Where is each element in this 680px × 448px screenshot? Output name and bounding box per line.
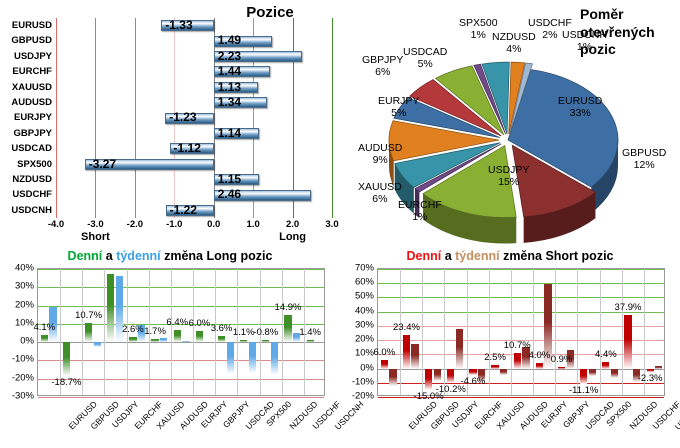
bar-denní-gbpusd <box>63 342 70 376</box>
positions-data-label: 1.44 <box>218 64 241 79</box>
bar-denní-eurjpy <box>174 330 181 342</box>
pie-label-pct: 1% <box>562 42 607 54</box>
pie-label-name: EURJPY <box>378 96 419 108</box>
data-label: -2.3% <box>638 373 663 384</box>
pie-label-pct: 4% <box>492 44 536 56</box>
title-part: Denní <box>407 249 445 263</box>
positions-data-label: 2.23 <box>218 49 241 64</box>
category-separator <box>489 269 490 395</box>
data-label: 6.0% <box>373 347 395 358</box>
title-part: a <box>106 249 116 263</box>
value-axis-label: 20% <box>340 334 374 345</box>
pie-label-xauusd: XAUUSD6% <box>358 182 402 206</box>
bar-týdenní-usdcad <box>227 342 234 374</box>
gridline <box>38 397 324 398</box>
positions-data-label: 1.34 <box>218 95 241 110</box>
category-separator <box>422 269 423 395</box>
pie-stage: EURUSD33%GBPUSD12%USDJPY15%EURCHF1%XAUUS… <box>340 0 680 248</box>
bar-denní-usdjpy <box>85 323 92 343</box>
value-axis-label: 60% <box>340 277 374 288</box>
data-label: 0.9% <box>551 354 573 365</box>
category-separator <box>82 269 83 395</box>
positions-data-label: 1.14 <box>218 126 241 141</box>
pie-label-gbpusd: GBPUSD12% <box>622 148 666 172</box>
long-plot-area: 4.1%-18.7%10.7%2.6%1.7%6.4%6.0%3.6%1.1%-… <box>37 268 325 396</box>
positions-axis-tick: -2.0 <box>127 219 143 230</box>
bar-denní-usdcad <box>558 367 565 368</box>
positions-category-label: USDCNH <box>0 203 56 218</box>
bar-denní-usdcnh <box>307 340 314 343</box>
positions-category-label: GBPUSD <box>0 33 56 48</box>
pie-label-name: AUDUSD <box>358 143 402 155</box>
title-part: týdenní <box>455 249 503 263</box>
positions-data-label: 1.15 <box>218 172 241 187</box>
pie-label-pct: 6% <box>362 67 403 79</box>
positions-category-label: EURCHF <box>0 64 56 79</box>
value-axis-label: 40% <box>340 305 374 316</box>
pie-label-name: USDJPY <box>488 165 529 177</box>
category-separator <box>104 269 105 395</box>
value-axis-label: 50% <box>340 291 374 302</box>
data-label: 4.4% <box>595 349 617 360</box>
data-label: 1.4% <box>299 327 321 338</box>
value-axis-label: 10% <box>0 317 34 328</box>
bar-denní-usdjpy <box>425 369 432 390</box>
data-label: 4.1% <box>33 322 55 333</box>
data-label: 2.6% <box>122 324 144 335</box>
bar-týdenní-gbpusd <box>411 344 418 368</box>
bar-týdenní-spx500 <box>589 369 596 377</box>
category-separator <box>171 269 172 395</box>
positions-data-label: -1.22 <box>170 203 197 218</box>
bar-denní-eurchf <box>107 274 114 342</box>
positions-axis-tick: 0.0 <box>207 219 220 230</box>
category-separator <box>577 269 578 395</box>
positions-bar-row: 1.15 <box>56 172 332 187</box>
positions-category-label: EURJPY <box>0 110 56 125</box>
positions-bar-row: -1.12 <box>56 141 332 156</box>
bar-denní-xauusd <box>469 369 476 376</box>
bar-denní-gbpjpy <box>536 363 543 369</box>
positions-short-label: Short <box>81 231 110 243</box>
short-plot-area: 6.0%23.4%-15.0%-10.2%-4.6%2.5%10.7%4.0%0… <box>377 268 665 396</box>
pie-label-pct: 5% <box>403 59 447 71</box>
pie-label-name: GBPUSD <box>622 148 666 160</box>
positions-bar-row: 1.44 <box>56 64 332 79</box>
title-part: Denní <box>68 249 106 263</box>
positions-category-label: AUDUSD <box>0 95 56 110</box>
short-positions-change-chart: Denní a týdenní změna Short pozic 6.0%23… <box>340 248 680 448</box>
category-separator <box>444 269 445 395</box>
data-label: -4.6% <box>461 376 486 387</box>
bar-týdenní-usdjpy <box>94 342 101 347</box>
value-axis-label: 30% <box>0 281 34 292</box>
data-label: 1.7% <box>144 326 166 337</box>
value-axis-label: 0% <box>340 362 374 373</box>
pie-label-eurjpy: EURJPY5% <box>378 96 419 120</box>
bar-denní-usdchf <box>284 315 291 342</box>
bar-týdenní-eurjpy <box>182 341 189 342</box>
category-separator <box>282 269 283 395</box>
pie-label-eurusd: EURUSD33% <box>558 96 602 120</box>
pie-label-pct: 6% <box>358 194 402 206</box>
bar-denní-usdchf <box>624 315 631 369</box>
pie-label-eurchf: EURCHF1% <box>398 200 442 224</box>
bar-týdenní-usdcnh <box>655 366 662 369</box>
value-axis-label: -20% <box>0 372 34 383</box>
data-label: 6.4% <box>166 317 188 328</box>
positions-data-label: 2.46 <box>218 187 241 202</box>
data-label: -0.8% <box>253 327 278 338</box>
data-label: 1.1% <box>233 327 255 338</box>
positions-bar-row: -1.22 <box>56 203 332 218</box>
data-label: 6.0% <box>189 318 211 329</box>
category-separator <box>60 269 61 395</box>
pie-label-name: GBPJPY <box>362 55 403 67</box>
pie-label-name: USDCHF <box>528 18 572 30</box>
positions-axis-tick: -1.0 <box>166 219 182 230</box>
positions-category-label: SPX500 <box>0 157 56 172</box>
value-axis-label: -20% <box>340 391 374 402</box>
positions-data-label: 1.13 <box>218 80 241 95</box>
bar-denní-eurchf <box>447 369 454 384</box>
bar-týdenní-spx500 <box>249 342 256 373</box>
pie-label-name: USDCNH <box>562 30 607 42</box>
bar-denní-eurjpy <box>514 353 521 368</box>
positions-category-label: USDJPY <box>0 49 56 64</box>
bar-denní-audusd <box>151 339 158 342</box>
positions-axis-tick: -4.0 <box>48 219 64 230</box>
positions-category-label: GBPJPY <box>0 126 56 141</box>
data-label: 2.5% <box>484 352 506 363</box>
positions-long-label: Long <box>279 231 306 243</box>
data-label: 3.6% <box>211 323 233 334</box>
pie-label-pct: 5% <box>378 108 419 120</box>
pie-label-usdjpy: USDJPY15% <box>488 165 529 189</box>
pie-label-pct: 15% <box>488 177 529 189</box>
positions-bar-row: 1.34 <box>56 95 332 110</box>
value-axis-label: 10% <box>340 348 374 359</box>
long-chart-title: Denní a týdenní změna Long pozic <box>0 249 340 263</box>
positions-data-label: -1.33 <box>165 18 192 33</box>
title-part: změna Short pozic <box>503 249 613 263</box>
pie-label-name: USDCAD <box>403 47 447 59</box>
bar-denní-audusd <box>491 365 498 369</box>
bar-denní-spx500 <box>580 369 587 385</box>
positions-category-label: NZDUSD <box>0 172 56 187</box>
long-positions-change-chart: Denní a týdenní změna Long pozic 4.1%-18… <box>0 248 340 448</box>
positions-axis-tick: 1.0 <box>247 219 260 230</box>
data-label: 10.7% <box>504 340 531 351</box>
pie-label-name: EURCHF <box>398 200 442 212</box>
positions-axis-tick: -3.0 <box>87 219 103 230</box>
title-part: a <box>445 249 455 263</box>
pie-label-name: SPX500 <box>459 18 498 30</box>
bar-týdenní-audusd <box>500 369 507 375</box>
positions-bar-row: 1.49 <box>56 33 332 48</box>
pie-label-usdcad: USDCAD5% <box>403 47 447 71</box>
data-label: 10.7% <box>75 310 102 321</box>
value-axis-label: -30% <box>0 391 34 402</box>
bar-denní-nzdusd <box>262 340 269 342</box>
data-label: -18.7% <box>51 377 81 388</box>
value-axis-label: 0% <box>0 336 34 347</box>
value-axis-label: 30% <box>340 319 374 330</box>
bar-denní-gbpusd <box>403 335 410 368</box>
positions-bar-row: -3.27 <box>56 157 332 172</box>
title-part: změna Long pozic <box>164 249 272 263</box>
category-separator <box>193 269 194 395</box>
value-axis-label: -10% <box>340 376 374 387</box>
pie-label-usdcnh: USDCNH1% <box>562 30 607 54</box>
category-separator <box>555 269 556 395</box>
data-label: -11.1% <box>569 385 598 396</box>
category-separator <box>511 269 512 395</box>
category-separator <box>533 269 534 395</box>
bar-týdenní-eurusd <box>389 369 396 387</box>
pie-label-pct: 33% <box>558 108 602 120</box>
bar-denní-usdcnh <box>647 369 654 372</box>
bar-denní-eurusd <box>381 360 388 369</box>
pie-label-pct: 12% <box>622 160 666 172</box>
positions-data-label: -1.23 <box>169 110 196 125</box>
value-axis-label: -10% <box>0 354 34 365</box>
bar-denní-eurusd <box>41 335 48 342</box>
positions-category-label: EURUSD <box>0 18 56 33</box>
positions-category-label: USDCHF <box>0 187 56 202</box>
positions-data-label: -3.27 <box>89 157 116 172</box>
pie-label-name: XAUUSD <box>358 182 402 194</box>
pie-label-audusd: AUDUSD9% <box>358 143 402 167</box>
positions-bar-row: 2.23 <box>56 49 332 64</box>
positions-bar-row: 2.46 <box>56 187 332 202</box>
bar-týdenní-eurchf <box>456 329 463 369</box>
short-chart-title: Denní a týdenní změna Short pozic <box>340 249 680 263</box>
positions-gridline <box>332 18 333 218</box>
positions-data-label: 1.49 <box>218 33 241 48</box>
category-separator <box>622 269 623 395</box>
pie-label-gbpjpy: GBPJPY6% <box>362 55 403 79</box>
positions-data-label: -1.12 <box>174 141 201 156</box>
value-axis-label: 70% <box>340 263 374 274</box>
bar-týdenní-nzdusd <box>271 342 278 375</box>
bar-týdenní-nzdusd <box>611 369 618 378</box>
positions-bar-row: -1.33 <box>56 18 332 33</box>
open-positions-pie-chart: Poměr otevřených pozic EURUSD33%GBPUSD12… <box>340 0 680 248</box>
title-part: týdenní <box>116 249 164 263</box>
value-axis-label: 40% <box>0 263 34 274</box>
positions-bar-chart: Pozice EURUSDGBPUSDUSDJPYEURCHFXAUUSDAUD… <box>0 0 340 248</box>
bar-týdenní-usdjpy <box>434 369 441 381</box>
data-label: 23.4% <box>393 322 420 333</box>
positions-bar-row: -1.23 <box>56 110 332 125</box>
positions-plot-area: -1.331.492.231.441.131.34-1.231.14-1.12-… <box>56 18 332 218</box>
value-axis-label: 20% <box>0 299 34 310</box>
pie-label-pct: 9% <box>358 155 402 167</box>
bar-denní-xauusd <box>129 337 136 342</box>
positions-axis-tick: 2.0 <box>286 219 299 230</box>
pie-label-pct: 1% <box>398 212 442 224</box>
positions-category-label: USDCAD <box>0 141 56 156</box>
positions-value-axis: -4.0-3.0-2.0-1.00.01.02.03.0ShortLong <box>56 219 332 233</box>
positions-category-axis: EURUSDGBPUSDUSDJPYEURCHFXAUUSDAUDUSDEURJ… <box>0 18 56 218</box>
data-label: 14.9% <box>275 302 302 313</box>
pie-label-name: EURUSD <box>558 96 602 108</box>
positions-axis-tick: 3.0 <box>325 219 338 230</box>
bar-denní-spx500 <box>240 340 247 342</box>
bar-denní-nzdusd <box>602 362 609 368</box>
data-label: 4.0% <box>529 350 551 361</box>
bar-týdenní-audusd <box>160 338 167 342</box>
data-label: 37.9% <box>615 302 642 313</box>
category-separator <box>600 269 601 395</box>
positions-bar-row: 1.13 <box>56 80 332 95</box>
bar-denní-gbpjpy <box>196 331 203 342</box>
positions-category-label: XAUUSD <box>0 80 56 95</box>
positions-bar-row: 1.14 <box>56 126 332 141</box>
bar-denní-usdcad <box>218 336 225 343</box>
